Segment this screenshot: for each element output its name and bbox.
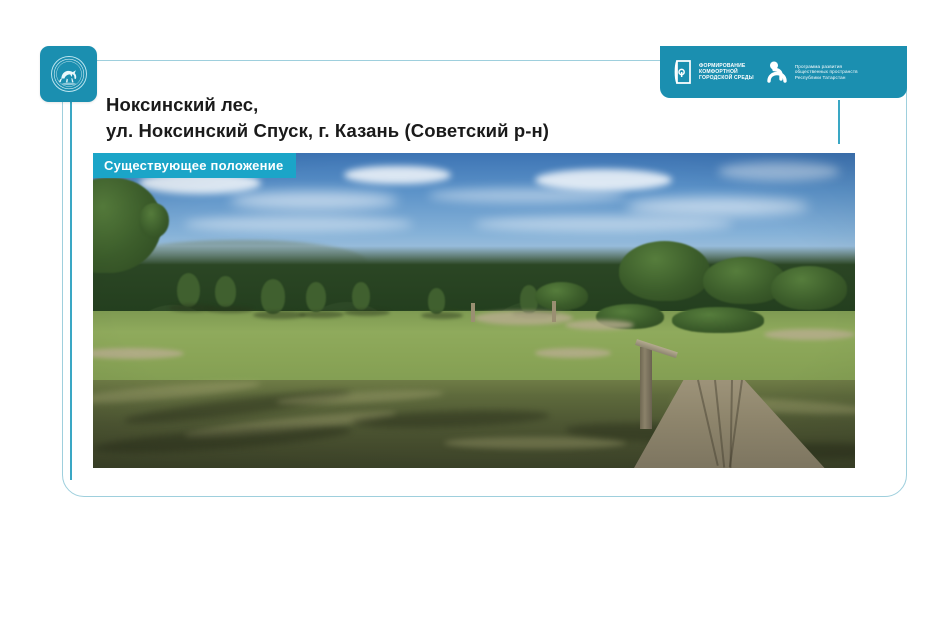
cloud-6 <box>626 197 809 216</box>
page-title: Ноксинский лес, ул. Ноксинский Спуск, г.… <box>106 92 726 143</box>
sapling-6 <box>428 288 445 313</box>
shrub-cluster-right-3 <box>771 266 847 310</box>
sapling-2 <box>215 276 236 308</box>
caption-label: Существующее положение <box>104 158 283 173</box>
wooden-boardwalk <box>634 380 825 468</box>
slide-root: ФОРМИРОВАНИЕ КОМФОРТНОЙ ГОРОДСКОЙ СРЕДЫ … <box>0 0 940 627</box>
noksinsky-forest-existing-condition-photo <box>93 153 855 468</box>
earth-patch-2 <box>565 320 634 330</box>
fg-highlight-4 <box>444 437 627 450</box>
field-post-1 <box>471 303 475 322</box>
partner-line-2-3: Республики Татарстан <box>795 75 858 81</box>
sapling-shadow-4 <box>299 311 345 319</box>
shrub-cluster-right-1 <box>619 241 710 301</box>
partner-badge-comfortable-urban-environment: ФОРМИРОВАНИЕ КОМФОРТНОЙ ГОРОДСКОЙ СРЕДЫ <box>674 59 754 85</box>
status-badge: Существующее положение <box>93 153 296 178</box>
overhanging-branch-tip <box>139 203 169 238</box>
frame-connector-line-right <box>838 100 840 144</box>
cloud-5 <box>535 169 672 191</box>
shrub-cluster-low-right <box>672 307 763 332</box>
sapling-3 <box>261 279 285 314</box>
person-figure-icon <box>767 59 789 85</box>
tatarstan-logo-badge <box>40 46 97 102</box>
page-title-line-1: Ноксинский лес, <box>106 92 726 118</box>
photo-canvas <box>93 153 855 468</box>
cloud-2 <box>230 191 398 210</box>
field-post-2 <box>552 301 556 321</box>
sapling-1 <box>177 273 200 308</box>
tatarstan-coat-of-arms-icon <box>50 55 88 93</box>
shrub-cluster-mid <box>535 282 588 310</box>
sapling-shadow-6 <box>421 312 463 319</box>
page-title-line-2: ул. Ноксинский Спуск, г. Казань (Советск… <box>106 118 726 144</box>
earth-patch-1 <box>474 311 573 325</box>
boardwalk-rail-post <box>640 347 651 429</box>
partner-badge-public-spaces-program: Программа развития общественных простран… <box>767 59 858 85</box>
frame-connector-line-left <box>70 100 72 480</box>
partner-badges-panel: ФОРМИРОВАНИЕ КОМФОРТНОЙ ГОРОДСКОЙ СРЕДЫ … <box>660 46 907 98</box>
sapling-4 <box>306 282 326 312</box>
partner-label-lines-2: Программа развития общественных простран… <box>795 64 858 81</box>
earth-patch-4 <box>535 348 611 357</box>
door-house-icon <box>674 59 693 85</box>
partner-label-lines-1: ФОРМИРОВАНИЕ КОМФОРТНОЙ ГОРОДСКОЙ СРЕДЫ <box>699 63 754 82</box>
partner-line-1-3: ГОРОДСКОЙ СРЕДЫ <box>699 75 754 81</box>
